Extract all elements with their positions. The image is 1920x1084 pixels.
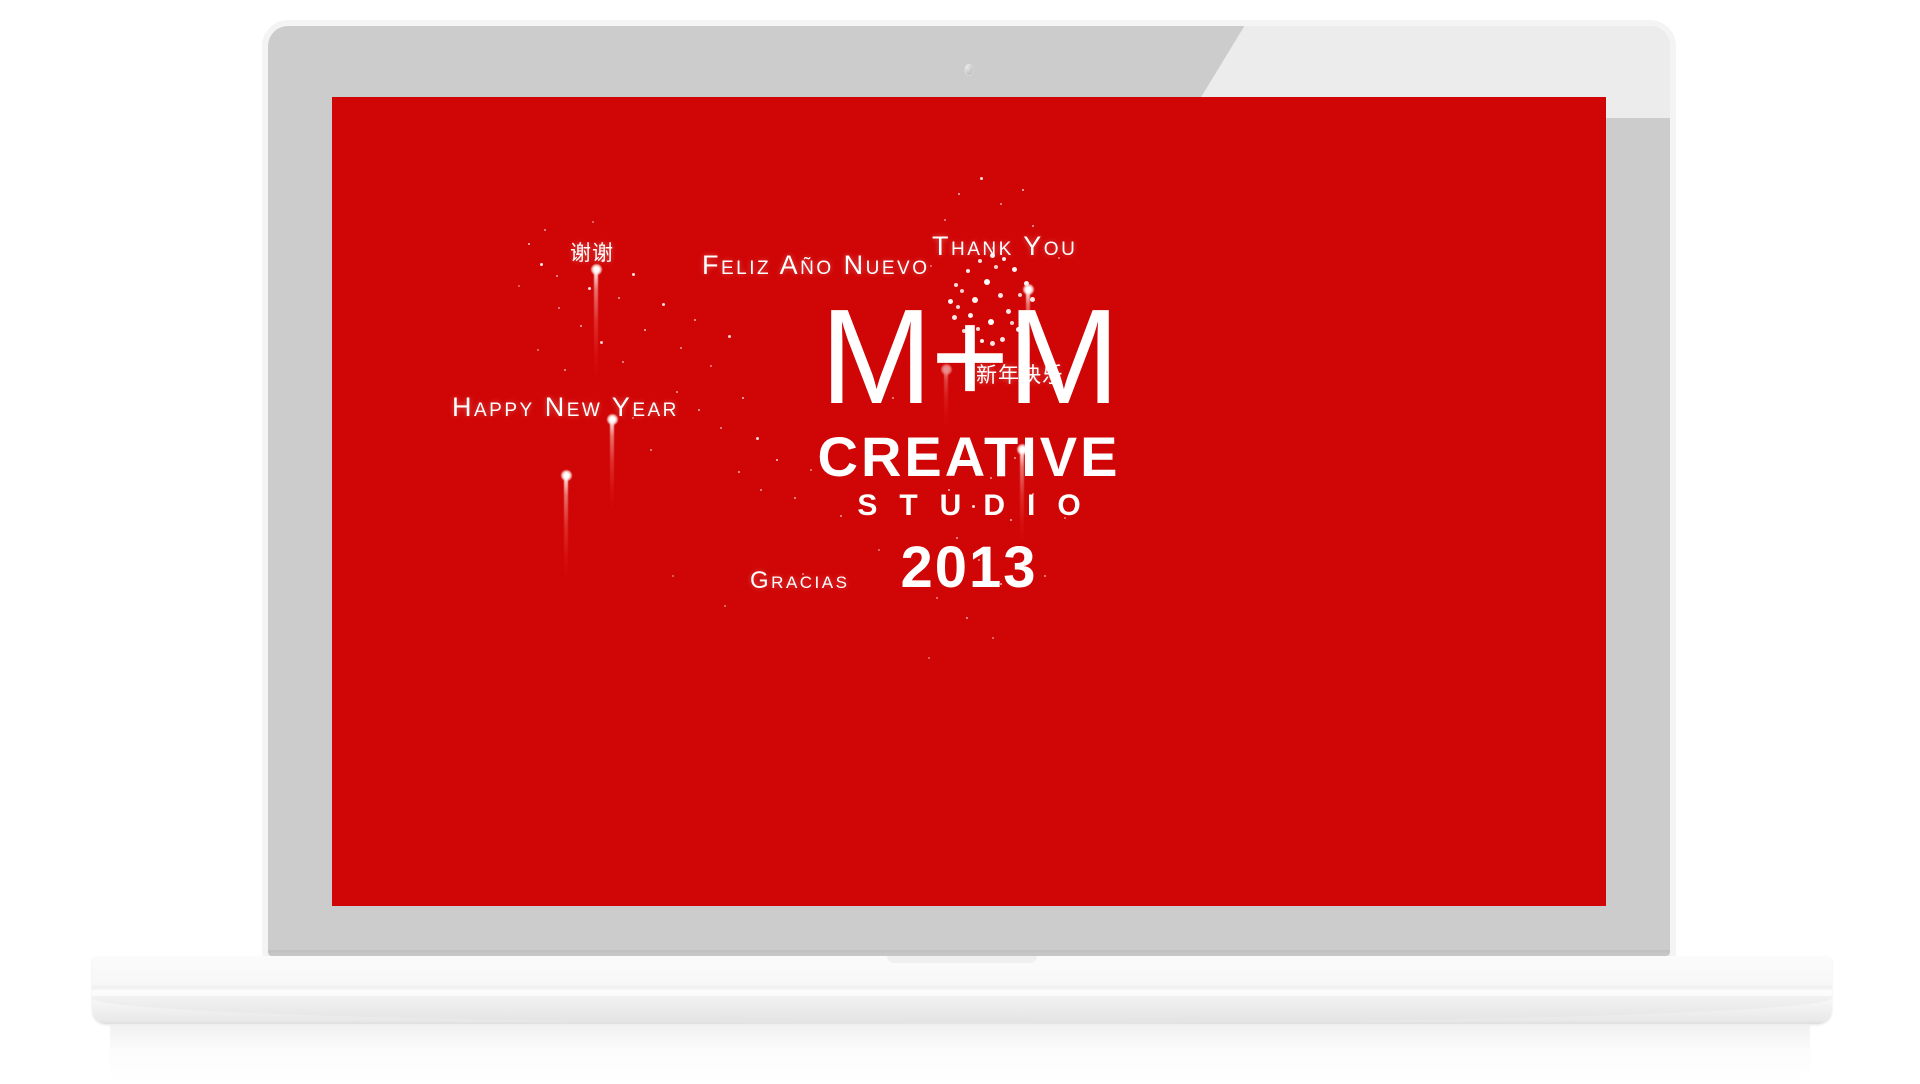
camera-icon (965, 64, 974, 76)
logo-mark: M+M (332, 293, 1606, 421)
spark (556, 275, 558, 277)
greeting-thank-you: Thank You (932, 231, 1077, 262)
greeting-xiexie: 谢谢 (570, 237, 614, 267)
laptop-base (92, 956, 1832, 1024)
base-notch (887, 956, 1037, 963)
laptop-device: 谢谢 Feliz Año Nuevo Thank You 新年快乐 Happy … (0, 0, 1920, 1084)
base-front-lip (92, 996, 1832, 1024)
spark (980, 177, 983, 180)
laptop-screen[interactable]: 谢谢 Feliz Año Nuevo Thank You 新年快乐 Happy … (332, 97, 1606, 906)
spark (724, 605, 726, 607)
logo-studio-label: STUDIO (332, 491, 1606, 521)
device-reflection (110, 1024, 1810, 1082)
logo-creative-label: CREATIVE (332, 429, 1606, 485)
spark (544, 229, 546, 231)
logo-block: M+M CREATIVE STUDIO 2013 (332, 293, 1606, 597)
spark (966, 617, 968, 619)
spark (1022, 189, 1024, 191)
spark (1000, 203, 1002, 205)
screenshot-stage: 谢谢 Feliz Año Nuevo Thank You 新年快乐 Happy … (0, 0, 1920, 1084)
spark (588, 287, 591, 290)
spark (528, 243, 530, 245)
spark (944, 219, 946, 221)
spark (1032, 225, 1034, 227)
spark (928, 657, 930, 659)
spark (992, 637, 994, 639)
greeting-canvas: 谢谢 Feliz Año Nuevo Thank You 新年快乐 Happy … (332, 97, 1606, 906)
logo-year: 2013 (332, 539, 1606, 597)
spark (540, 263, 543, 266)
spark (592, 221, 594, 223)
spark (632, 273, 635, 276)
spark (518, 285, 520, 287)
spark (930, 265, 932, 267)
spark (958, 193, 960, 195)
greeting-feliz: Feliz Año Nuevo (702, 250, 929, 281)
